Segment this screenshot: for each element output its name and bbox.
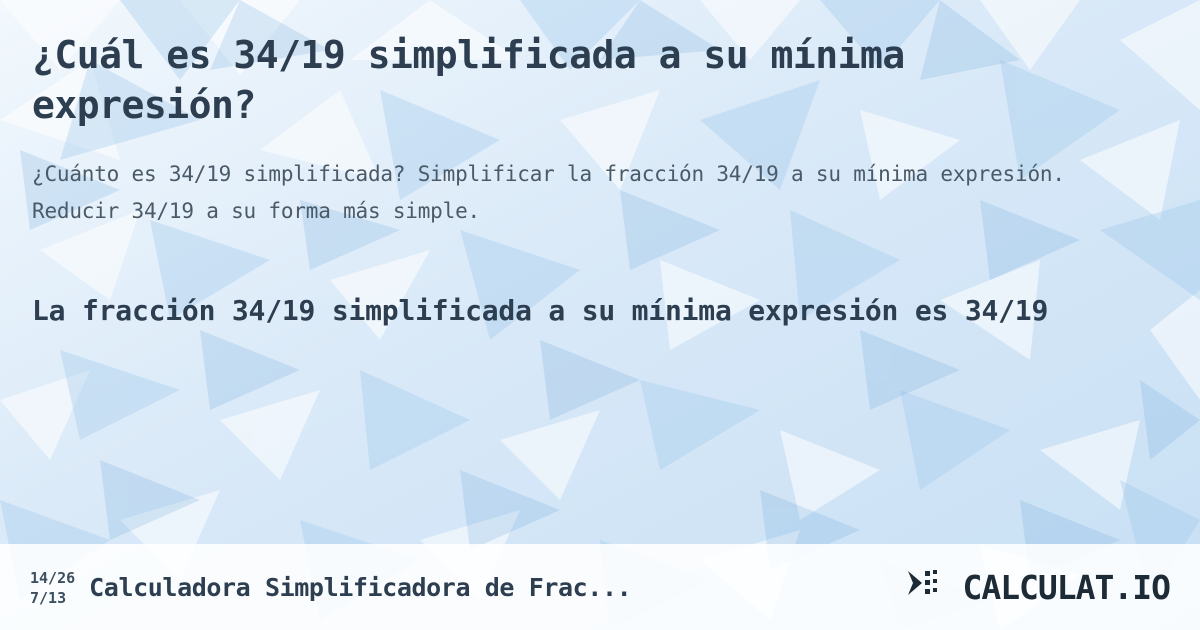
footer-bar: 14/26 7/13 Calculadora Simplificadora de… [0,544,1200,630]
answer-text: La fracción 34/19 simplificada a su míni… [32,288,1062,334]
fraction-badge-icon: 14/26 7/13 [30,566,75,609]
content-area: ¿Cuál es 34/19 simplificada a su mínima … [0,0,1200,334]
calculator-spark-icon [906,567,952,607]
page-title: ¿Cuál es 34/19 simplificada a su mínima … [32,30,1042,130]
brand-logo: CALCULAT.IO [906,567,1170,607]
page-description: ¿Cuánto es 34/19 simplificada? Simplific… [32,156,1102,230]
tool-name: Calculadora Simplificadora de Frac... [89,573,631,602]
fraction-badge-top: 14/26 [30,568,75,588]
fraction-badge-bottom: 7/13 [30,588,75,608]
brand-name: CALCULAT.IO [962,568,1170,607]
og-image-card: ¿Cuál es 34/19 simplificada a su mínima … [0,0,1200,630]
